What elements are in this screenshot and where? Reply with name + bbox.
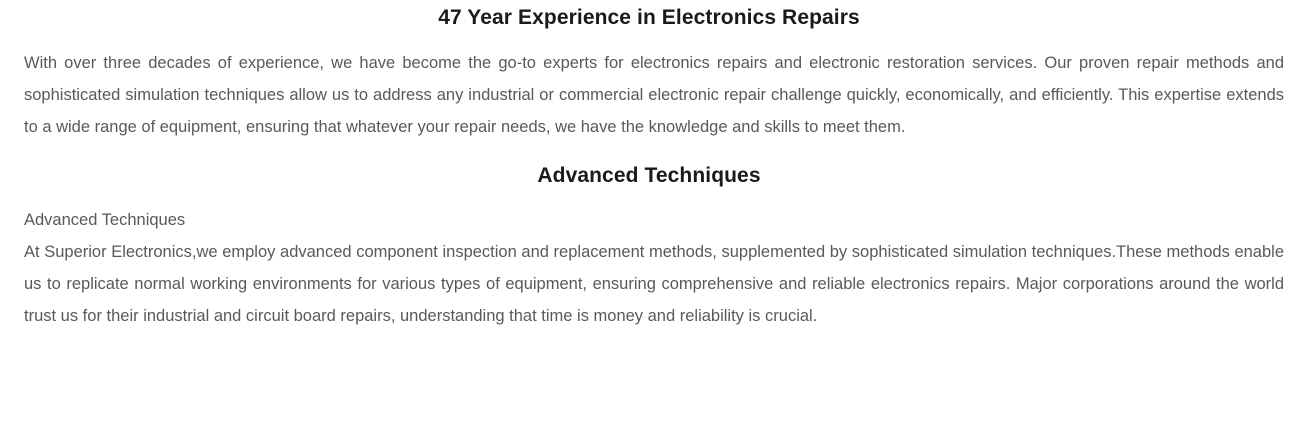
- advanced-techniques-paragraph: At Superior Electronics,we employ advanc…: [14, 236, 1284, 332]
- advanced-techniques-label: Advanced Techniques: [14, 204, 1284, 236]
- page-content: 47 Year Experience in Electronics Repair…: [0, 0, 1298, 435]
- section-heading-advanced-techniques: Advanced Techniques: [14, 157, 1284, 189]
- heading-spacer: [14, 143, 1284, 157]
- page-title: 47 Year Experience in Electronics Repair…: [14, 0, 1284, 31]
- label-spacer: [14, 189, 1284, 204]
- experience-paragraph: With over three decades of experience, w…: [14, 47, 1284, 143]
